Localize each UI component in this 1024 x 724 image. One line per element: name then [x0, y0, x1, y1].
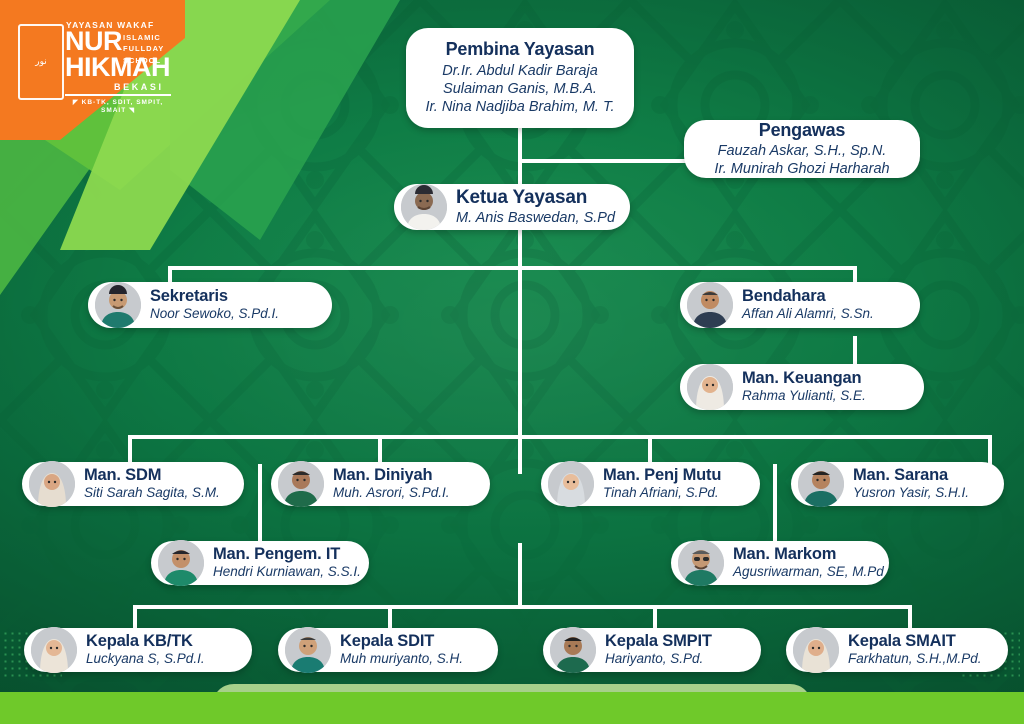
member-name: Dr.Ir. Abdul Kadir Baraja: [442, 62, 598, 80]
node-text: Man. Diniyah Muh. Asrori, S.Pd.I.: [324, 466, 462, 502]
node-name: Affan Ali Alamri, S.Sn.: [742, 306, 874, 323]
avatar: [798, 461, 844, 507]
logo-units: ◤ KB-TK, SDIT, SMPIT, SMAIT ◥: [65, 98, 171, 114]
node-pembina-yayasan[interactable]: Pembina Yayasan Dr.Ir. Abdul Kadir Baraj…: [406, 28, 634, 128]
node-man-keuangan[interactable]: Man. Keuangan Rahma Yulianti, S.E.: [680, 364, 924, 410]
node-title: Man. Penj Mutu: [603, 466, 721, 485]
node-man-markom[interactable]: Man. Markom Agusriwarman, SE, M.Pd: [671, 541, 889, 585]
avatar: [285, 627, 331, 673]
node-title: Pembina Yayasan: [446, 39, 595, 60]
node-title: Kepala KB/TK: [86, 632, 205, 651]
node-text: Man. Pengem. IT Hendri Kurniawan, S.S.I.: [204, 545, 369, 581]
node-text: Kepala KB/TK Luckyana S, S.Pd.I.: [77, 632, 217, 668]
member-name: Ir. Nina Nadjiba Brahim, M. T.: [425, 98, 614, 116]
node-title: Man. Sarana: [853, 466, 969, 485]
member-name: Fauzah Askar, S.H., Sp.N.: [718, 142, 887, 160]
node-sekretaris[interactable]: Sekretaris Noor Sewoko, S.Pd.I.: [88, 282, 332, 328]
node-title: Ketua Yayasan: [456, 187, 615, 209]
node-name: Noor Sewoko, S.Pd.I.: [150, 306, 279, 323]
node-title: Kepala SDIT: [340, 632, 463, 651]
avatar: [158, 540, 204, 586]
foundation-logo: نور YAYASAN WAKAF NUR ISLAMICFULLDAYSCHO…: [18, 10, 178, 110]
avatar: [550, 627, 596, 673]
node-text: Man. Sarana Yusron Yasir, S.H.I.: [844, 466, 981, 502]
node-name: Rahma Yulianti, S.E.: [742, 388, 866, 405]
avatar: [687, 364, 733, 410]
node-name: Luckyana S, S.Pd.I.: [86, 651, 205, 668]
member-name: Sulaiman Ganis, M.B.A.: [443, 80, 597, 98]
node-text: Man. Keuangan Rahma Yulianti, S.E.: [733, 369, 878, 405]
node-name: Yusron Yasir, S.H.I.: [853, 485, 969, 502]
logo-divider: [65, 94, 171, 96]
node-title: Man. SDM: [84, 466, 220, 485]
org-chart-poster: نور YAYASAN WAKAF NUR ISLAMICFULLDAYSCHO…: [0, 0, 1024, 724]
node-text: Man. SDM Siti Sarah Sagita, S.M.: [75, 466, 232, 502]
node-name: Hendri Kurniawan, S.S.I.: [213, 564, 357, 581]
node-text: Ketua Yayasan M. Anis Baswedan, S.Pd: [447, 187, 627, 227]
node-name: Muh. Asrori, S.Pd.I.: [333, 485, 450, 502]
node-man-penj-mutu[interactable]: Man. Penj Mutu Tinah Afriani, S.Pd.: [541, 462, 760, 506]
node-name: Agusriwarman, SE, M.Pd: [733, 564, 877, 581]
node-text: Kepala SDIT Muh muriyanto, S.H.: [331, 632, 475, 668]
arabic-calligraphy-icon: نور: [18, 24, 64, 100]
node-name: Hariyanto, S.Pd.: [605, 651, 712, 668]
node-text: Sekretaris Noor Sewoko, S.Pd.I.: [141, 287, 291, 323]
node-name: Tinah Afriani, S.Pd.: [603, 485, 721, 502]
avatar: [29, 461, 75, 507]
avatar: [678, 540, 724, 586]
node-text: Man. Markom Agusriwarman, SE, M.Pd: [724, 545, 889, 581]
node-title: Kepala SMPIT: [605, 632, 712, 651]
node-title: Pengawas: [759, 120, 845, 141]
node-title: Man. Keuangan: [742, 369, 866, 388]
node-title: Bendahara: [742, 287, 874, 306]
logo-city: BEKASI: [114, 82, 164, 92]
node-title: Kepala SMAIT: [848, 632, 982, 651]
node-bendahara[interactable]: Bendahara Affan Ali Alamri, S.Sn.: [680, 282, 920, 328]
avatar: [687, 282, 733, 328]
node-name: Farkhatun, S.H.,M.Pd.: [848, 651, 982, 668]
node-name: Siti Sarah Sagita, S.M.: [84, 485, 220, 502]
node-text: Kepala SMPIT Hariyanto, S.Pd.: [596, 632, 724, 668]
avatar: [548, 461, 594, 507]
avatar: [278, 461, 324, 507]
avatar: [95, 282, 141, 328]
node-title: Sekretaris: [150, 287, 279, 306]
node-man-diniyah[interactable]: Man. Diniyah Muh. Asrori, S.Pd.I.: [271, 462, 490, 506]
node-man-sarana[interactable]: Man. Sarana Yusron Yasir, S.H.I.: [791, 462, 1004, 506]
node-kepala-smait[interactable]: Kepala SMAIT Farkhatun, S.H.,M.Pd.: [786, 628, 1008, 672]
node-title: Man. Diniyah: [333, 466, 450, 485]
node-text: Kepala SMAIT Farkhatun, S.H.,M.Pd.: [839, 632, 994, 668]
node-name: M. Anis Baswedan, S.Pd: [456, 209, 615, 227]
node-ketua-yayasan[interactable]: Ketua Yayasan M. Anis Baswedan, S.Pd: [394, 184, 630, 230]
node-man-pengem-it[interactable]: Man. Pengem. IT Hendri Kurniawan, S.S.I.: [151, 541, 369, 585]
node-text: Bendahara Affan Ali Alamri, S.Sn.: [733, 287, 886, 323]
member-name: Ir. Munirah Ghozi Harharah: [714, 160, 889, 178]
node-kepala-sdit[interactable]: Kepala SDIT Muh muriyanto, S.H.: [278, 628, 498, 672]
node-title: Man. Pengem. IT: [213, 545, 357, 564]
avatar: [793, 627, 839, 673]
node-name: Muh muriyanto, S.H.: [340, 651, 463, 668]
avatar: [401, 184, 447, 230]
node-pengawas[interactable]: Pengawas Fauzah Askar, S.H., Sp.N. Ir. M…: [684, 120, 920, 178]
node-text: Man. Penj Mutu Tinah Afriani, S.Pd.: [594, 466, 733, 502]
node-kepala-smpit[interactable]: Kepala SMPIT Hariyanto, S.Pd.: [543, 628, 761, 672]
logo-name-nur: NUR: [65, 28, 122, 55]
node-kepala-kbtk[interactable]: Kepala KB/TK Luckyana S, S.Pd.I.: [24, 628, 252, 672]
node-title: Man. Markom: [733, 545, 877, 564]
logo-name-hikmah: HIKMAH: [65, 54, 170, 81]
avatar: [31, 627, 77, 673]
node-man-sdm[interactable]: Man. SDM Siti Sarah Sagita, S.M.: [22, 462, 244, 506]
